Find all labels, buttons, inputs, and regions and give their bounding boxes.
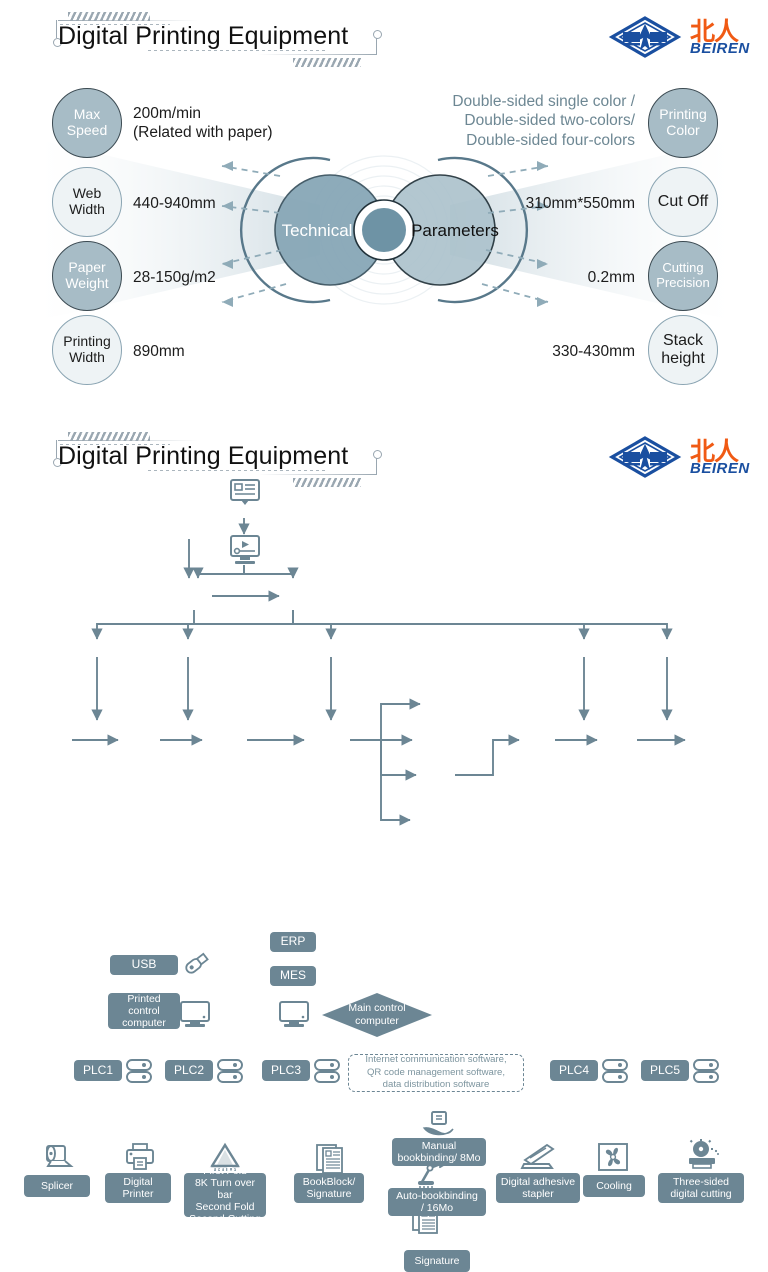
- title-rule-4: [258, 54, 376, 55]
- page-title: Digital Printing Equipment: [58, 442, 348, 471]
- logo-english-name: BEIREN: [690, 40, 750, 57]
- spec-value-max-speed: 200m/min (Related with paper): [133, 104, 273, 143]
- stapler-icon: [519, 1140, 557, 1172]
- monitor-icon: [277, 1000, 311, 1030]
- node-auto-bookbinding[interactable]: Auto-bookbinding / 16Mo: [388, 1188, 486, 1216]
- spec-label: Max Speed: [53, 107, 121, 138]
- title-rule-3: [56, 20, 57, 38]
- node-main-control-computer[interactable]: Main control computer: [322, 993, 432, 1037]
- spec-circle-paper-weight[interactable]: Paper Weight: [52, 241, 122, 311]
- node-three-sided-digital-cutting[interactable]: Three-sided digital cutting: [658, 1173, 744, 1203]
- node-plc1[interactable]: PLC1: [74, 1060, 122, 1081]
- printer-icon: [123, 1142, 157, 1172]
- cooling-fan-icon: [597, 1142, 629, 1172]
- server-stack-icon: [601, 1058, 629, 1084]
- node-manual-bookbinding[interactable]: Manual bookbinding/ 8Mo: [392, 1138, 486, 1166]
- node-mes[interactable]: MES: [270, 966, 316, 986]
- spec-circle-printing-width[interactable]: Printing Width: [52, 315, 122, 385]
- node-digital-adhesive-stapler[interactable]: Digital adhesive stapler: [496, 1173, 580, 1203]
- title-dot-right: [373, 450, 382, 459]
- server-stack-icon: [313, 1058, 341, 1084]
- spec-label: Stack height: [649, 332, 717, 368]
- spec-circle-cutting-precision[interactable]: Cutting Precision: [648, 241, 718, 311]
- flow-title-block: Digital Printing Equipment: [28, 428, 388, 490]
- node-plc3[interactable]: PLC3: [262, 1060, 310, 1081]
- spec-value-printing-color: Double-sided single color / Double-sided…: [395, 92, 635, 150]
- spec-value-paper-weight: 28-150g/m2: [133, 268, 216, 287]
- circular-saw-cutter-icon: [685, 1138, 721, 1172]
- beiren-hexagon-emblem-icon: [606, 436, 684, 483]
- spec-value-cut-off: 310mm*550mm: [395, 194, 635, 213]
- spec-label: Web Width: [53, 186, 121, 217]
- node-signature[interactable]: Signature: [404, 1250, 470, 1272]
- spec-circle-web-width[interactable]: Web Width: [52, 167, 122, 237]
- brand-logo: 北人 BEIREN: [606, 14, 758, 60]
- hand-holding-book-icon: [420, 1110, 456, 1140]
- spec-value-printing-width: 890mm: [133, 342, 185, 361]
- server-stack-icon: [216, 1058, 244, 1084]
- page-title: Digital Printing Equipment: [58, 22, 348, 51]
- title-hatch-bottom: [293, 478, 361, 487]
- node-usb[interactable]: USB: [110, 955, 178, 975]
- server-stack-icon: [692, 1058, 720, 1084]
- node-software-note: Internet communication software, QR code…: [348, 1054, 524, 1092]
- specs-panel: Digital Printing Equipment 北人 BEIREN: [0, 0, 768, 400]
- flow-panel: Digital Printing Equipment 北人 BEIREN: [0, 420, 768, 864]
- title-rule-3: [56, 440, 57, 458]
- node-plc5[interactable]: PLC5: [641, 1060, 689, 1081]
- node-splicer[interactable]: Splicer: [24, 1175, 90, 1197]
- document-stack-icon: [313, 1142, 347, 1174]
- spec-circle-printing-color[interactable]: Printing Color: [648, 88, 718, 158]
- node-plc2[interactable]: PLC2: [165, 1060, 213, 1081]
- spec-circle-stack-height[interactable]: Stack height: [648, 315, 718, 385]
- node-bookblock-signature[interactable]: BookBlock/ Signature: [294, 1173, 364, 1203]
- node-erp[interactable]: ERP: [270, 932, 316, 952]
- brand-logo: 北人 BEIREN: [606, 434, 758, 480]
- title-hatch-bottom: [293, 58, 361, 67]
- beiren-hexagon-emblem-icon: [606, 16, 684, 63]
- title-rule-1: [58, 20, 198, 21]
- venn-left-label: Technical: [282, 221, 353, 240]
- spec-label: Cut Off: [654, 193, 712, 211]
- paper-roll-icon: [40, 1142, 74, 1172]
- node-plc4[interactable]: PLC4: [550, 1060, 598, 1081]
- title-rule-4: [258, 474, 376, 475]
- spec-circle-cut-off[interactable]: Cut Off: [648, 167, 718, 237]
- spec-label: Printing Color: [649, 107, 717, 138]
- node-printed-control-computer[interactable]: Printed control computer: [108, 993, 180, 1029]
- usb-stick-icon: [181, 950, 211, 978]
- folding-triangle-icon: [208, 1142, 242, 1172]
- node-digital-printer[interactable]: Digital Printer: [105, 1173, 171, 1203]
- title-dot-right: [373, 30, 382, 39]
- media-monitor-icon: [228, 534, 262, 566]
- spec-label: Paper Weight: [53, 260, 121, 291]
- spec-value-cutting-precision: 0.2mm: [395, 268, 635, 287]
- title-rule-1: [58, 440, 198, 441]
- venn-right-label: Parameters: [411, 221, 499, 240]
- spec-label: Printing Width: [53, 334, 121, 365]
- monitor-icon: [178, 1000, 212, 1030]
- spec-value-web-width: 440-940mm: [133, 194, 216, 213]
- spec-value-stack-height: 330-430mm: [395, 342, 635, 361]
- server-stack-icon: [125, 1058, 153, 1084]
- specs-title-block: Digital Printing Equipment: [28, 8, 388, 70]
- logo-english-name: BEIREN: [690, 460, 750, 477]
- node-folding-station[interactable]: First Fold 8K Turn over bar Second Fold …: [184, 1173, 266, 1217]
- spec-circle-max-speed[interactable]: Max Speed: [52, 88, 122, 158]
- presentation-screen-icon: [228, 478, 262, 508]
- node-cooling[interactable]: Cooling: [583, 1175, 645, 1197]
- spec-label: Cutting Precision: [649, 261, 717, 290]
